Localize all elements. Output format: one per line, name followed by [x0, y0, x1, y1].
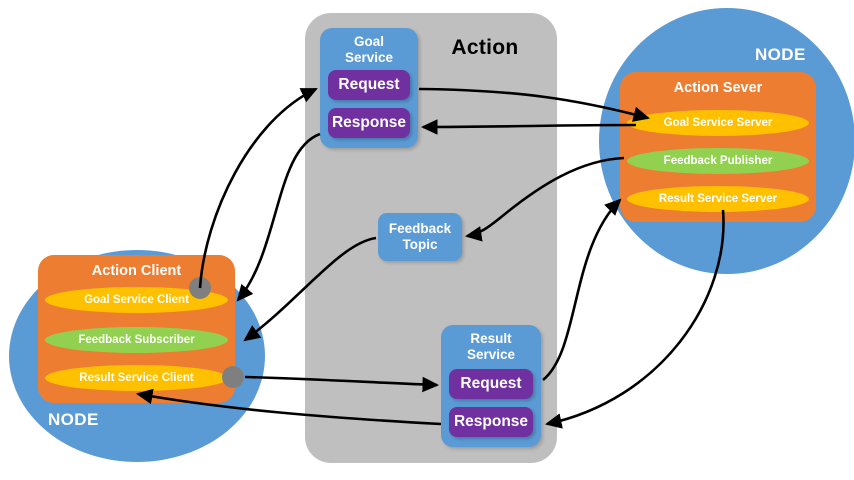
goal-service-request[interactable]: Request: [328, 70, 410, 100]
result-service-title-line1: Result: [470, 331, 511, 346]
action-client-box: Action Client Goal Service Client Feedba…: [38, 255, 235, 403]
feedback-topic-box[interactable]: Feedback Topic: [378, 213, 462, 261]
result-service-request[interactable]: Request: [449, 369, 533, 399]
goal-service-title-line2: Service: [345, 50, 393, 65]
result-service-title-line2: Service: [467, 347, 515, 362]
feedback-publisher-ellipse[interactable]: Feedback Publisher: [627, 148, 809, 174]
result-service-response[interactable]: Response: [449, 407, 533, 437]
result-service-client-ellipse[interactable]: Result Service Client: [45, 365, 228, 391]
feedback-topic-line1: Feedback: [389, 221, 451, 237]
goal-service-title: Goal Service: [320, 34, 418, 66]
result-service-box: Result Service Request Response: [441, 325, 541, 447]
client-node-label: NODE: [48, 410, 99, 430]
goal-client-connector-dot: [189, 277, 211, 299]
action-architecture-diagram: Action NODE NODE Action Client Goal Serv…: [0, 0, 854, 480]
result-service-title: Result Service: [441, 331, 541, 363]
action-title: Action: [425, 36, 545, 60]
goal-service-title-line1: Goal: [354, 34, 384, 49]
goal-service-server-ellipse[interactable]: Goal Service Server: [627, 110, 809, 136]
result-client-connector-dot: [222, 366, 244, 388]
feedback-topic-line2: Topic: [403, 237, 438, 253]
result-service-server-ellipse[interactable]: Result Service Server: [627, 186, 809, 212]
feedback-subscriber-ellipse[interactable]: Feedback Subscriber: [45, 327, 228, 353]
action-client-title: Action Client: [38, 263, 235, 279]
action-server-box: Action Sever Goal Service Server Feedbac…: [620, 72, 816, 222]
server-node-label: NODE: [755, 45, 806, 65]
goal-service-box: Goal Service Request Response: [320, 28, 418, 148]
goal-service-response[interactable]: Response: [328, 108, 410, 138]
action-server-title: Action Sever: [620, 80, 816, 96]
